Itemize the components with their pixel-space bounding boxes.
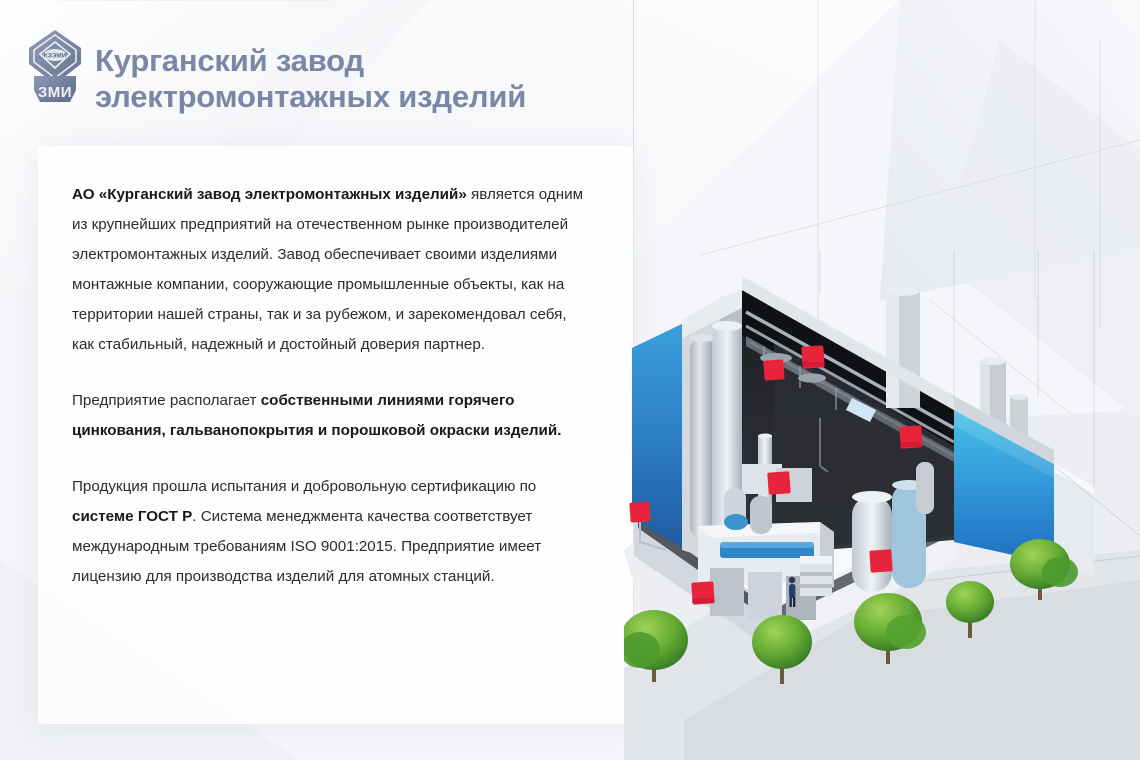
- kzemi-diamond-logo: КЗЭМИ ЗМИ: [26, 28, 84, 104]
- paragraph-list: АО «Курганский завод электромонтажных из…: [72, 180, 592, 592]
- p-lines: Предприятие располагает собственными лин…: [72, 386, 592, 446]
- page-title-line-2: электромонтажных изделий: [95, 79, 695, 116]
- page-header: КЗЭМИ ЗМИ Курганский завод электромонтаж…: [0, 0, 1140, 125]
- company-description-card: АО «Курганский завод электромонтажных из…: [38, 146, 634, 724]
- isometric-factory-cutaway: [624, 250, 1140, 760]
- emphasis-run: АО «Курганский завод электромонтажных из…: [72, 186, 467, 203]
- pallet-stack: [800, 556, 832, 596]
- emphasis-run: системе ГОСТ Р: [72, 508, 192, 525]
- text-run: Предприятие располагает: [72, 392, 261, 409]
- text-run: Продукция прошла испытания и добровольну…: [72, 478, 536, 495]
- logo-inner-text: КЗЭМИ: [44, 53, 67, 60]
- p-company: АО «Курганский завод электромонтажных из…: [72, 180, 592, 360]
- page-title-line-1: Курганский завод: [95, 43, 364, 78]
- p-certification: Продукция прошла испытания и добровольну…: [72, 472, 592, 592]
- text-run: является одним из крупнейших предприятий…: [72, 186, 583, 353]
- page-title: Курганский завод электромонтажных издели…: [95, 43, 695, 116]
- logo-bottom-text: ЗМИ: [38, 84, 72, 101]
